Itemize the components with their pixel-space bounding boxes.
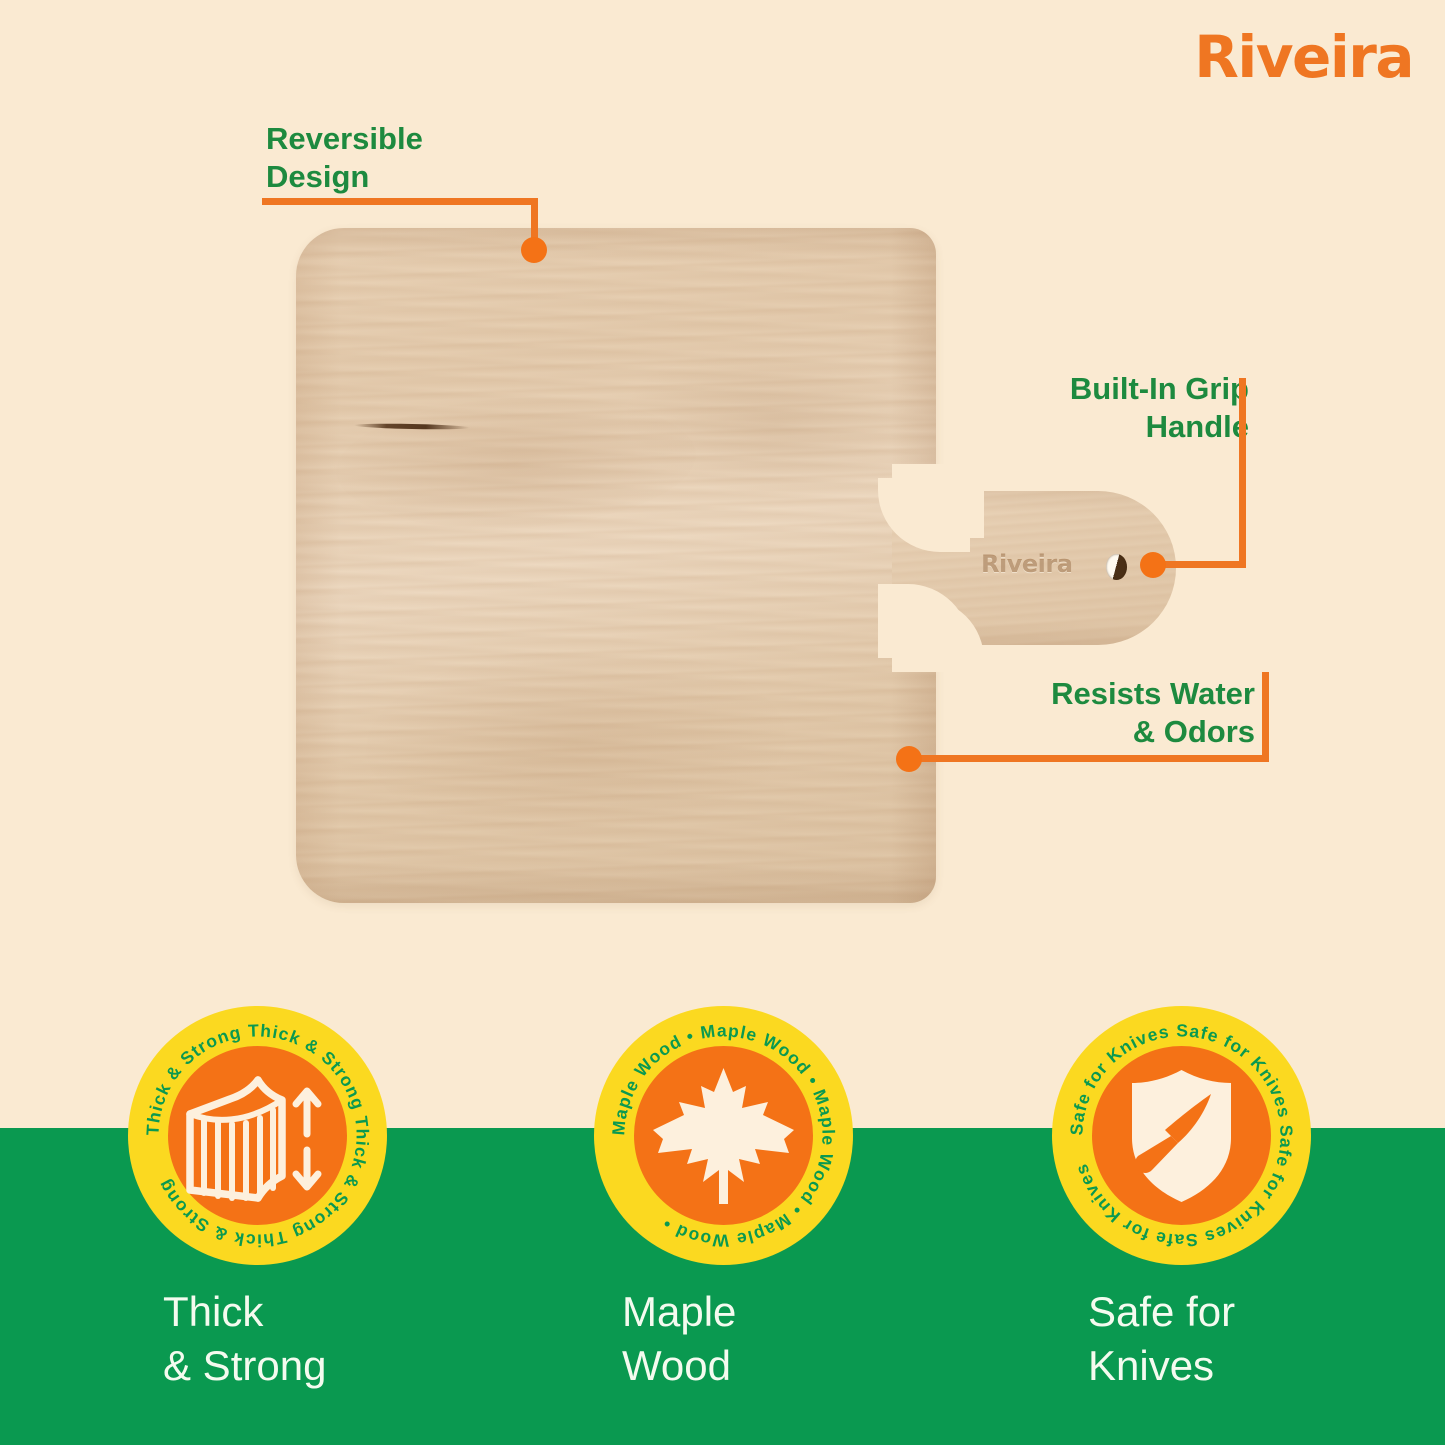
callout-label-grip-handle: Built-In Grip Handle — [1070, 370, 1249, 447]
callout-connector-reversible-horizontal — [262, 198, 538, 205]
callout-connector-grip-horizontal — [1160, 561, 1246, 568]
wood-grain-pattern — [333, 389, 699, 538]
feature-badge-maple-wood: Maple Wood • Maple Wood • Maple Wood • M… — [594, 1006, 853, 1265]
board-surface — [296, 228, 936, 903]
badge-caption-safe-for-knives: Safe for Knives — [1088, 1285, 1235, 1393]
board-thickness-icon — [168, 1046, 347, 1225]
cutting-board-image: Riveira — [296, 228, 1176, 903]
brand-logo: Riveira — [1194, 28, 1413, 86]
badge-caption-thick-strong: Thick & Strong — [163, 1285, 326, 1393]
callout-dot-reversible-design — [521, 237, 547, 263]
badge-caption-maple-wood: Maple Wood — [622, 1285, 736, 1393]
callout-dot-grip-handle — [1140, 552, 1166, 578]
handle-brand-engraving: Riveira — [981, 550, 1072, 578]
handle-hanging-hole — [1106, 554, 1127, 580]
callout-label-reversible-design: Reversible Design — [266, 120, 423, 197]
shield-knife-icon — [1092, 1046, 1271, 1225]
maple-leaf-icon — [634, 1046, 813, 1225]
feature-badge-thick-strong: Thick & Strong Thick & Strong Thick & St… — [128, 1006, 387, 1265]
wood-grain-pattern — [363, 641, 789, 846]
feature-badge-safe-for-knives: Safe for Knives Safe for Knives Safe for… — [1052, 1006, 1311, 1265]
callout-connector-resists-horizontal — [920, 755, 1269, 762]
callout-connector-resists-vertical — [1262, 672, 1269, 762]
wood-knot-mark — [354, 423, 470, 430]
infographic-canvas: Riveira Riveira Reversible Design Built-… — [0, 0, 1445, 1445]
callout-dot-resists-water — [896, 746, 922, 772]
callout-label-resists-water: Resists Water & Odors — [1051, 675, 1255, 752]
callout-connector-grip-vertical — [1239, 378, 1246, 568]
wood-grain-pattern — [621, 338, 931, 509]
